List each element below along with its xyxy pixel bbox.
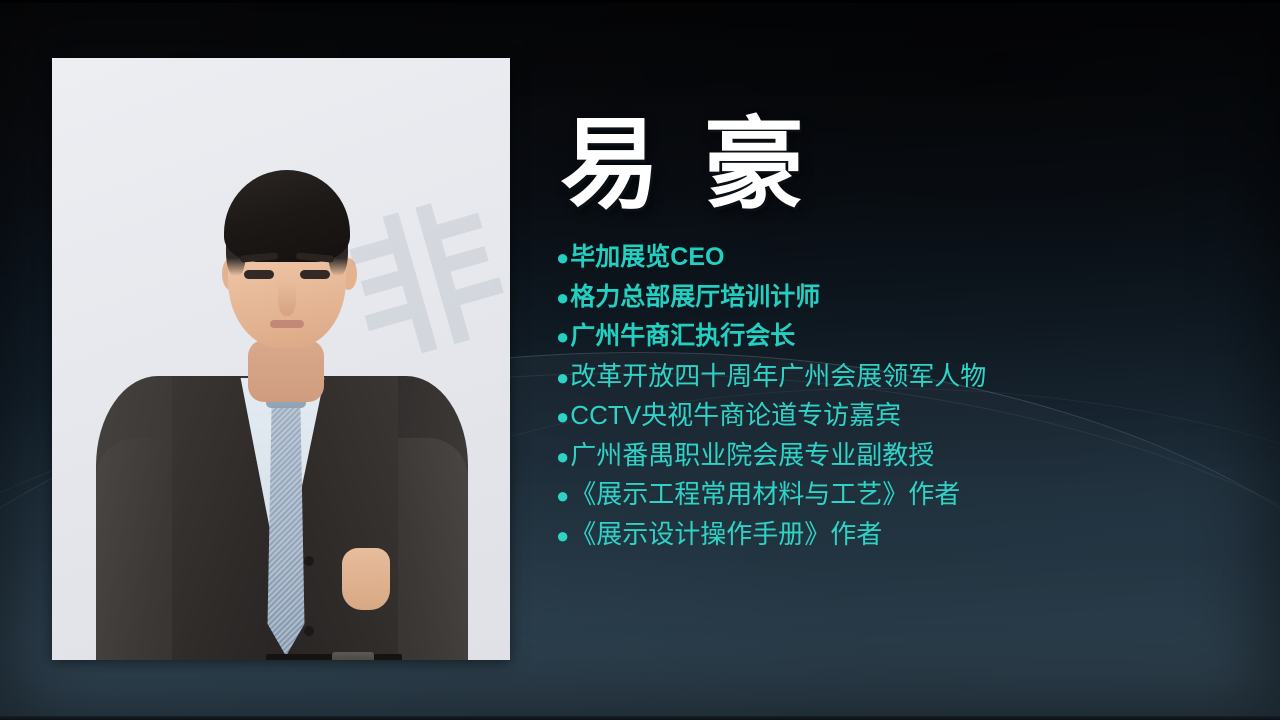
bullet-dot-icon: ●: [556, 406, 569, 428]
credential-item: ● 格力总部展厅培训计师: [556, 278, 1256, 318]
credential-text: 格力总部展厅培训计师: [570, 278, 820, 318]
credential-item: ● 《展示设计操作手册》作者: [556, 515, 1256, 555]
credential-text: 《展示设计操作手册》作者: [570, 515, 882, 555]
bullet-dot-icon: ●: [556, 247, 569, 269]
portrait-eye-right: [300, 270, 330, 279]
bullet-dot-icon: ●: [556, 485, 569, 507]
slide-top-edge: [0, 0, 1280, 3]
portrait-nose: [278, 282, 296, 316]
credential-text: 《展示工程常用材料与工艺》作者: [570, 475, 960, 515]
portrait-photo: 非: [52, 58, 510, 660]
credential-item: ● 《展示工程常用材料与工艺》作者: [556, 475, 1256, 515]
bullet-dot-icon: ●: [556, 287, 569, 309]
content-column: 易 豪 ● 毕加展览CEO ● 格力总部展厅培训计师 ● 广州牛商汇执行会长 ●…: [556, 100, 1256, 554]
credential-text: 改革开放四十周年广州会展领军人物: [570, 357, 986, 397]
credential-text: CCTV央视牛商论道专访嘉宾: [570, 396, 901, 436]
portrait-jacket-button-lower: [304, 626, 314, 636]
credential-item: ● 广州番禺职业院会展专业副教授: [556, 436, 1256, 476]
bullet-dot-icon: ●: [556, 326, 569, 348]
portrait-hand: [342, 548, 390, 610]
portrait-eye-left: [244, 270, 274, 279]
credential-text: 广州牛商汇执行会长: [570, 317, 795, 357]
bullet-dot-icon: ●: [556, 446, 569, 468]
presentation-slide: 非 易 豪 ● 毕加展览CEO ● 格力总部展厅培训计师 ● 广州牛商汇执行会长…: [0, 0, 1280, 720]
bullet-dot-icon: ●: [556, 367, 569, 389]
portrait-mouth: [270, 320, 304, 328]
credential-item: ● 广州牛商汇执行会长: [556, 317, 1256, 357]
portrait-jacket-button-upper: [304, 556, 314, 566]
credentials-list: ● 毕加展览CEO ● 格力总部展厅培训计师 ● 广州牛商汇执行会长 ● 改革开…: [556, 238, 1256, 554]
photo-watermark: 非: [334, 190, 510, 376]
credential-text: 广州番禺职业院会展专业副教授: [570, 436, 934, 476]
credential-item: ● 改革开放四十周年广州会展领军人物: [556, 357, 1256, 397]
slide-bottom-edge: [0, 716, 1280, 720]
bullet-dot-icon: ●: [556, 525, 569, 547]
portrait-neck: [248, 340, 324, 402]
credential-text: 毕加展览CEO: [570, 238, 724, 278]
speaker-name-title: 易 豪: [560, 100, 1256, 216]
credential-item: ● 毕加展览CEO: [556, 238, 1256, 278]
portrait-hair: [224, 170, 350, 262]
portrait-belt-buckle: [332, 652, 374, 660]
credential-item: ● CCTV央视牛商论道专访嘉宾: [556, 396, 1256, 436]
